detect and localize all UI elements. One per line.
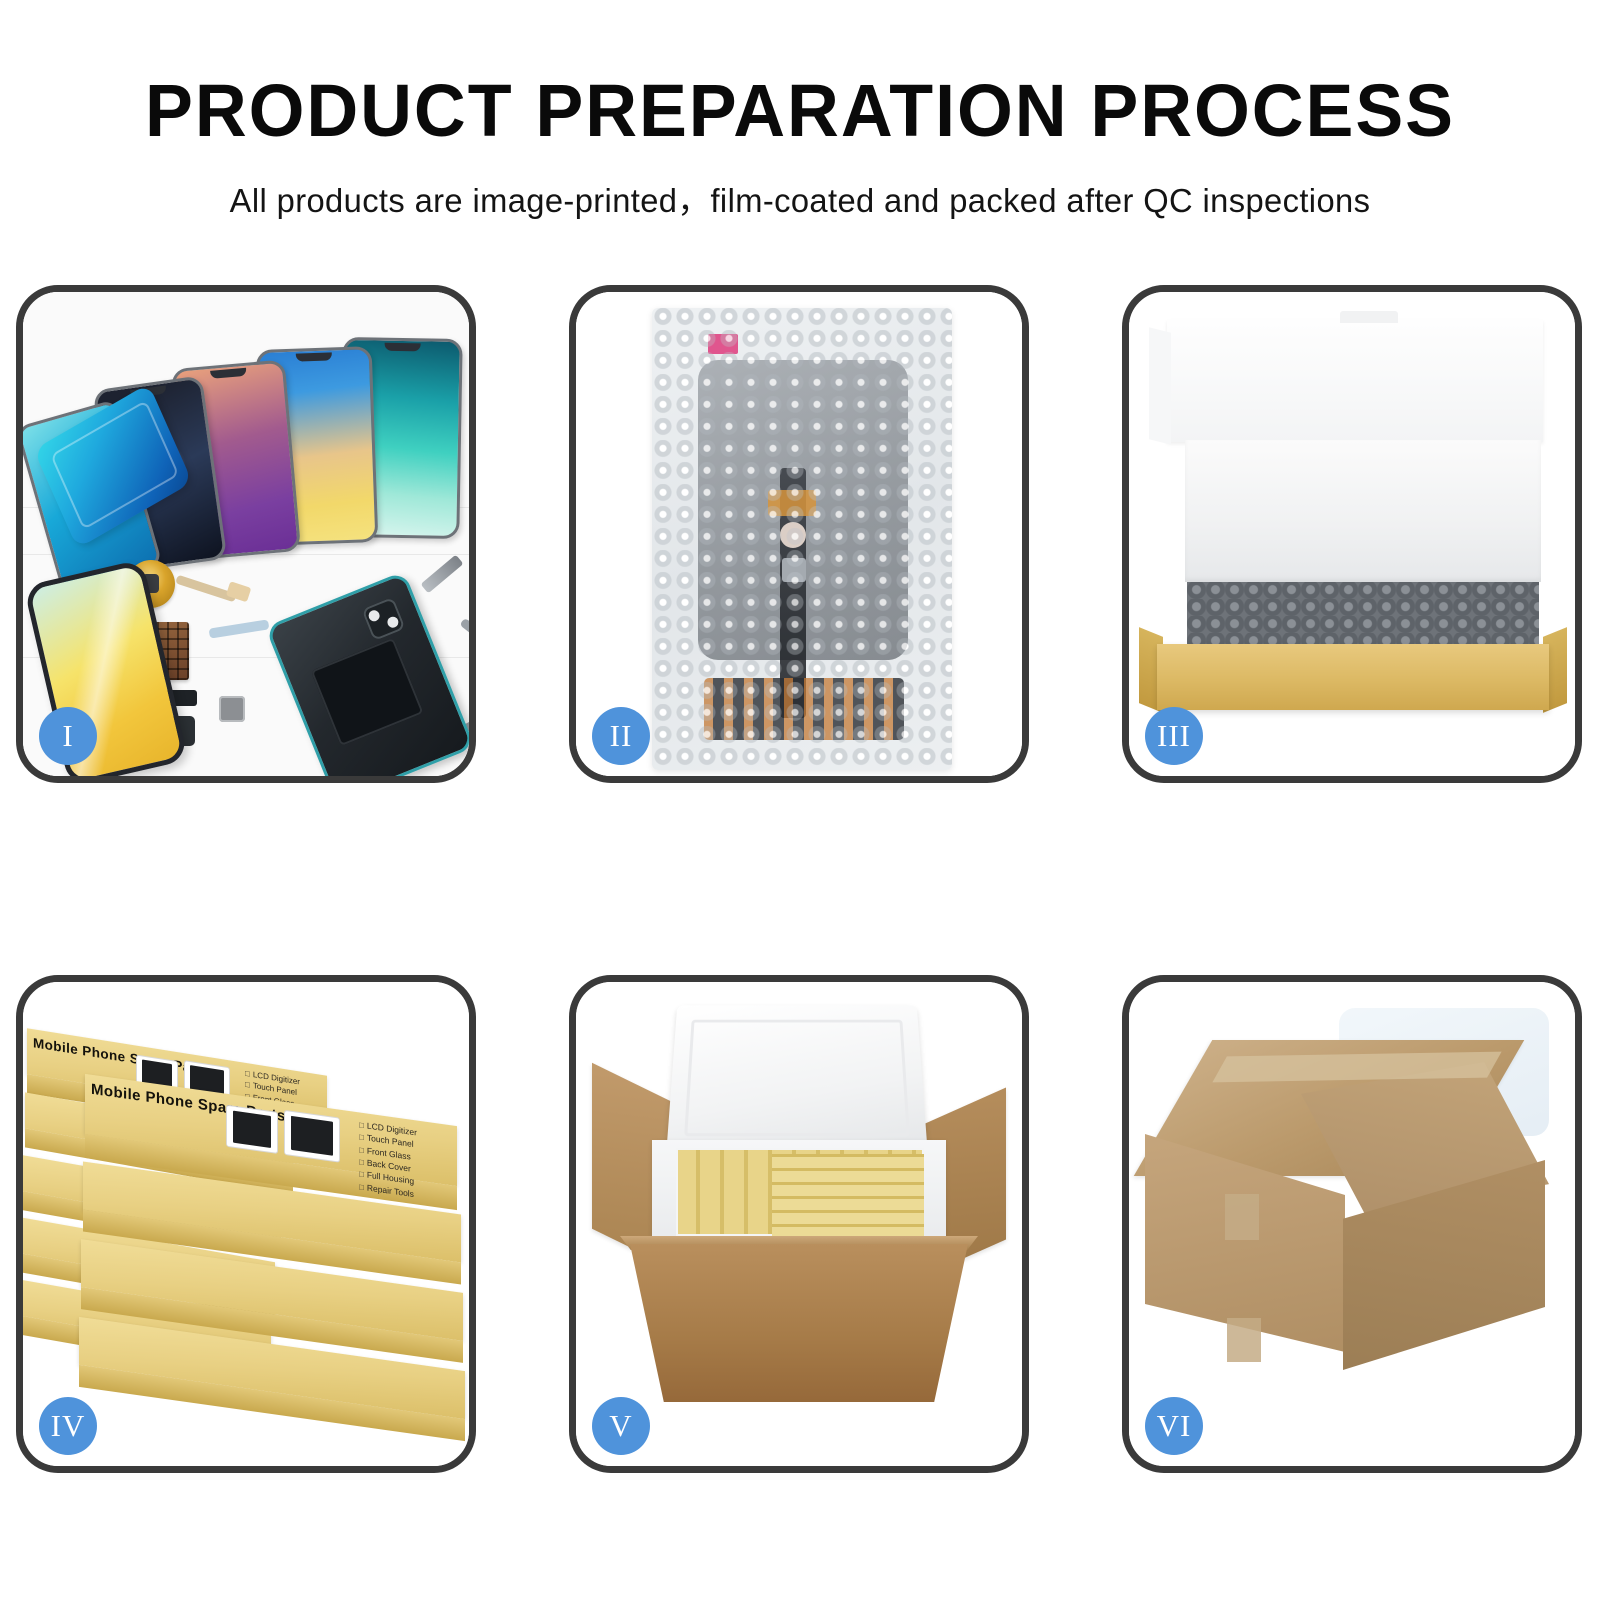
step-image-5 [576, 982, 1022, 1466]
step-card-6[interactable]: VI [1122, 975, 1582, 1473]
styrofoam-lid [666, 1005, 927, 1153]
step-image-6 [1129, 982, 1575, 1466]
step-card-3[interactable]: III [1122, 285, 1582, 783]
grey-bubble-padding [1187, 582, 1539, 648]
retail-box-checklist: LCD Digitizer Touch Panel Front Glass Ba… [359, 1118, 417, 1200]
camera-hole [780, 522, 806, 548]
step-badge-1: I [39, 707, 97, 765]
step-card-1[interactable]: I [16, 285, 476, 783]
bubble-wrap-pouch [652, 308, 952, 770]
battery-part [311, 638, 424, 746]
carton-front-panel [630, 1244, 968, 1402]
process-row-bottom: Mobile Phone Spare Parts LCD Digitizer T… [16, 975, 1586, 1473]
step-badge-5: V [592, 1397, 650, 1455]
page-title: PRODUCT PREPARATION PROCESS [24, 74, 1576, 148]
white-foam-sheet [1185, 440, 1541, 582]
bottom-connector-row [704, 678, 904, 740]
page-subtitle: All products are image-printed，film-coat… [8, 174, 1592, 222]
step-image-2 [576, 292, 1022, 776]
retail-box-brand: Mobile Phone Spare Parts [33, 1035, 209, 1078]
step-badge-6: VI [1145, 1397, 1203, 1455]
step-image-3 [1129, 292, 1575, 776]
box-lid-flap [1167, 320, 1543, 442]
step-image-4: Mobile Phone Spare Parts LCD Digitizer T… [23, 982, 469, 1466]
packing-tape-top [1212, 1052, 1501, 1083]
product-photo [227, 1106, 277, 1153]
driver-ic [782, 558, 806, 582]
gold-boxes-horizontal-right [772, 1154, 924, 1238]
qc-label-sticker [708, 334, 738, 354]
step-card-4[interactable]: Mobile Phone Spare Parts LCD Digitizer T… [16, 975, 476, 1473]
packing-tape-seam [1227, 1318, 1261, 1362]
process-step-grid: I II [16, 285, 1586, 1473]
step-badge-4: IV [39, 1397, 97, 1455]
packing-tape-seam [1225, 1194, 1259, 1240]
box-front-panel [1157, 644, 1549, 710]
product-photo [285, 1111, 339, 1162]
step-image-1 [23, 292, 469, 776]
step-card-5[interactable]: V [569, 975, 1029, 1473]
camera-module-part [361, 597, 405, 641]
page-header: PRODUCT PREPARATION PROCESS All products… [0, 0, 1600, 222]
step-badge-2: II [592, 707, 650, 765]
sealed-carton-group [1129, 982, 1575, 1466]
flex-connector [768, 490, 816, 516]
step-badge-3: III [1145, 707, 1203, 765]
process-row-top: I II [16, 285, 1586, 783]
step-card-2[interactable]: II [569, 285, 1029, 783]
sensor-part [219, 696, 245, 722]
gold-box-stack-group: Mobile Phone Spare Parts LCD Digitizer T… [23, 982, 469, 1466]
